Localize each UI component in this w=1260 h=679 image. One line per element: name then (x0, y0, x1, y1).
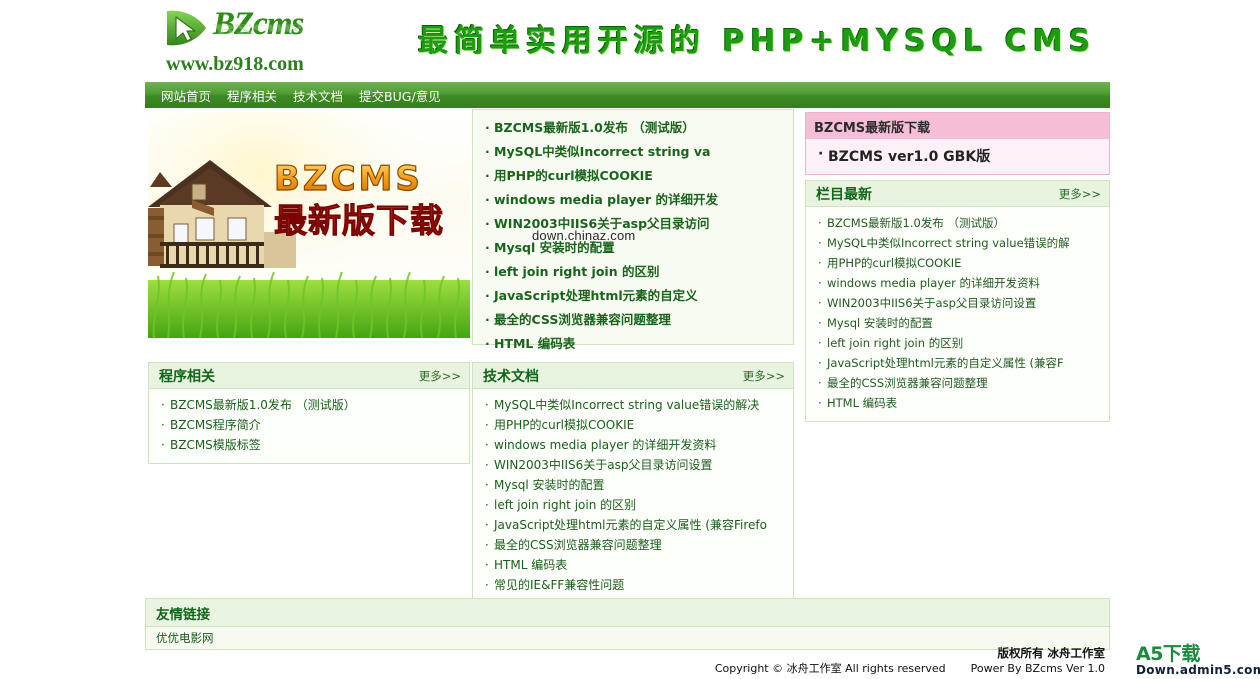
list-item[interactable]: MySQL中类似Incorrect string va (485, 140, 789, 164)
site-logo[interactable]: BZcms BZcms www.bz918.com (163, 4, 363, 78)
svg-text:BZCMS: BZCMS (274, 159, 423, 199)
svg-text:最新版下载: 最新版下载 (274, 201, 444, 240)
list-item[interactable]: windows media player 的详细开发资料 (485, 435, 787, 455)
friend-links-title: 友情链接 (146, 599, 1109, 627)
program-panel-body: BZCMS最新版1.0发布 （测试版） BZCMS程序简介 BZCMS模版标签 (149, 389, 469, 463)
list-item[interactable]: 最全的CSS浏览器兼容问题整理 (485, 535, 787, 555)
footer-copyright-line: Copyright © 冰舟工作室 All rights reserved Po… (145, 661, 1105, 676)
nav-item-home[interactable]: 网站首页 (153, 86, 219, 105)
program-panel-header: 程序相关 更多>> (149, 363, 469, 389)
a5-logo-url: Down.admin5.com (1136, 663, 1252, 677)
panel-title: 程序相关 (159, 366, 215, 386)
list-item[interactable]: Mysql 安装时的配置 (485, 236, 789, 260)
list-item[interactable]: MySQL中类似Incorrect string value错误的解决 (485, 395, 787, 415)
list-item[interactable]: JavaScript处理html元素的自定义属性 (兼容Firefo (485, 515, 787, 535)
list-item[interactable]: MySQL中类似Incorrect string value错误的解 (818, 233, 1103, 253)
list-item[interactable]: HTML 编码表 (485, 555, 787, 575)
more-link[interactable]: 更多>> (1059, 186, 1101, 202)
list-item[interactable]: HTML 编码表 (818, 393, 1103, 413)
tech-panel: 技术文档 更多>> MySQL中类似Incorrect string value… (472, 362, 794, 604)
list-item[interactable]: windows media player 的详细开发 (485, 188, 789, 212)
footer-powered-by: Power By BZcms Ver 1.0 (971, 662, 1105, 675)
logo-reflection: BZcms (213, 20, 303, 37)
list-item[interactable]: BZCMS模版标签 (161, 435, 463, 455)
list-item[interactable]: BZCMS最新版1.0发布 （测试版） (485, 116, 789, 140)
panel-title: 技术文档 (483, 366, 539, 386)
promo-banner[interactable]: BZCMS 最新版下载 (148, 112, 470, 338)
list-item[interactable]: Mysql 安装时的配置 (818, 313, 1103, 333)
a5-logo-title: A5下载 (1136, 645, 1252, 664)
news-headlines-box: BZCMS最新版1.0发布 （测试版） MySQL中类似Incorrect st… (472, 109, 794, 345)
list-item[interactable]: left join right join 的区别 (818, 333, 1103, 353)
footer-copyright-cn: 版权所有 冰舟工作室 (145, 646, 1105, 661)
panel-title: 栏目最新 (816, 184, 872, 204)
list-item[interactable]: JavaScript处理html元素的自定义 (485, 284, 789, 308)
list-item[interactable]: WIN2003中IIS6关于asp父目录访问设置 (818, 293, 1103, 313)
banner-slogan: 最简单实用开源的 PHP+MYSQL CMS (418, 16, 1118, 64)
page-root: BZcms BZcms www.bz918.com 最简单实用开源的 PHP+M… (0, 0, 1260, 679)
list-item[interactable]: Mysql 安装时的配置 (485, 475, 787, 495)
list-item[interactable]: JavaScript处理html元素的自定义属性 (兼容F (818, 353, 1103, 373)
download-panel-title: BZCMS最新版下载 (806, 113, 1109, 139)
latest-panel-header: 栏目最新 更多>> (806, 181, 1109, 207)
list-item[interactable]: WIN2003中IIS6关于asp父目录访问 (485, 212, 789, 236)
more-link[interactable]: 更多>> (419, 368, 461, 384)
tech-panel-header: 技术文档 更多>> (473, 363, 793, 389)
logo-site-url: www.bz918.com (166, 53, 304, 76)
tech-panel-body: MySQL中类似Incorrect string value错误的解决 用PHP… (473, 389, 793, 603)
latest-panel: 栏目最新 更多>> BZCMS最新版1.0发布 （测试版） MySQL中类似In… (805, 180, 1110, 422)
nav-item-tech[interactable]: 技术文档 (285, 86, 351, 105)
logo-row: BZcms BZcms (163, 4, 363, 56)
list-item[interactable]: WIN2003中IIS6关于asp父目录访问设置 (485, 455, 787, 475)
list-item[interactable]: 最全的CSS浏览器兼容问题整理 (818, 373, 1103, 393)
list-item[interactable]: windows media player 的详细开发资料 (818, 273, 1103, 293)
list-item[interactable]: left join right join 的区别 (485, 495, 787, 515)
program-panel: 程序相关 更多>> BZCMS最新版1.0发布 （测试版） BZCMS程序简介 … (148, 362, 470, 464)
list-item[interactable]: BZCMS ver1.0 GBK版 (818, 146, 1101, 166)
site-footer: 版权所有 冰舟工作室 Copyright © 冰舟工作室 All rights … (145, 646, 1110, 676)
nav-item-program[interactable]: 程序相关 (219, 86, 285, 105)
list-item[interactable]: BZCMS最新版1.0发布 （测试版） (161, 395, 463, 415)
list-item[interactable]: 常见的IE&FF兼容性问题 (485, 575, 787, 595)
cursor-arrow-icon (163, 8, 211, 50)
list-item[interactable]: 最全的CSS浏览器兼容问题整理 (485, 308, 789, 332)
list-item[interactable]: left join right join 的区别 (485, 260, 789, 284)
download-panel: BZCMS最新版下载 BZCMS ver1.0 GBK版 (805, 112, 1110, 175)
list-item[interactable]: BZCMS程序简介 (161, 415, 463, 435)
list-item[interactable]: 用PHP的curl模拟COOKIE (485, 164, 789, 188)
more-link[interactable]: 更多>> (743, 368, 785, 384)
site-header: BZcms BZcms www.bz918.com 最简单实用开源的 PHP+M… (0, 0, 1260, 82)
friend-link-item[interactable]: 优优电影网 (156, 630, 214, 646)
main-nav: 网站首页 程序相关 技术文档 提交BUG/意见 (145, 82, 1110, 108)
footer-copyright-en: Copyright © 冰舟工作室 All rights reserved (715, 662, 946, 675)
download-panel-body: BZCMS ver1.0 GBK版 (806, 139, 1109, 174)
nav-item-bug[interactable]: 提交BUG/意见 (351, 86, 449, 105)
list-item[interactable]: BZCMS最新版1.0发布 （测试版） (818, 213, 1103, 233)
chinaz-watermark: down.chinaz.com (532, 228, 635, 243)
latest-panel-body: BZCMS最新版1.0发布 （测试版） MySQL中类似Incorrect st… (806, 207, 1109, 421)
friend-links-panel: 友情链接 优优电影网 (145, 598, 1110, 650)
list-item[interactable]: HTML 编码表 (485, 332, 789, 356)
list-item[interactable]: 用PHP的curl模拟COOKIE (485, 415, 787, 435)
list-item[interactable]: 用PHP的curl模拟COOKIE (818, 253, 1103, 273)
a5-download-logo: A5下载 Down.admin5.com (1136, 645, 1252, 677)
